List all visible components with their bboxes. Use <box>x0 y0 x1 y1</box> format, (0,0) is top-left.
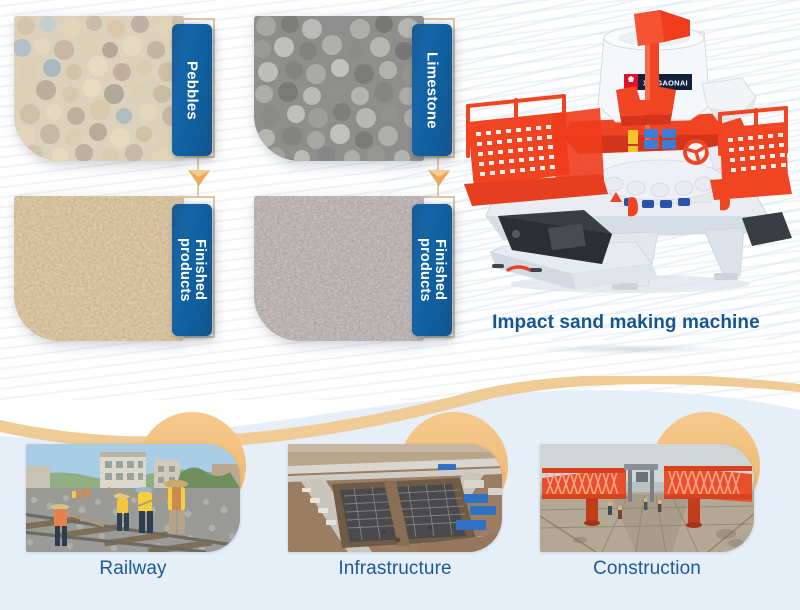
flow-card-limestone: Limestone <box>254 16 454 166</box>
flow-tab-label: Finished products <box>177 238 207 302</box>
railway-photo <box>26 444 240 552</box>
limestone-photo-texture <box>254 16 424 161</box>
flow-tab-label: Finished products <box>417 238 447 302</box>
application-label-construction: Construction <box>540 558 754 580</box>
application-label-railway: Railway <box>26 558 240 580</box>
flow-tab-finished-grey: Finished products <box>412 204 452 336</box>
infrastructure-photo <box>288 444 502 552</box>
limestone-photo <box>254 16 424 161</box>
promo-page: Pebbles <box>0 0 800 610</box>
flow-card-finished-tan: Finished products <box>14 196 214 346</box>
flow-tab-finished-tan: Finished products <box>172 204 212 336</box>
flow-tab-pebbles: Pebbles <box>172 24 212 156</box>
construction-photo <box>540 444 754 552</box>
machine-caption: Impact sand making machine <box>452 312 800 334</box>
application-label-infrastructure: Infrastructure <box>288 558 502 580</box>
finished-sand-photo <box>14 196 184 341</box>
pebbles-photo <box>14 16 184 161</box>
flow-card-pebbles: Pebbles <box>14 16 214 166</box>
impact-sand-making-machine-photo: XINGAONAI <box>452 2 800 302</box>
applications-row: Railway <box>0 376 800 610</box>
flow-tab-limestone: Limestone <box>412 24 452 156</box>
finished-grey-sand-photo-texture <box>254 196 424 341</box>
machine-illustration: XINGAONAI <box>452 2 800 302</box>
caption-drop-shadow <box>530 344 730 354</box>
down-arrow-icon <box>428 170 450 186</box>
construction-photo-art <box>540 444 754 552</box>
material-flow-diagram: Pebbles <box>0 0 470 380</box>
flow-tab-label: Pebbles <box>184 61 199 120</box>
pebbles-photo-texture <box>14 16 184 161</box>
down-arrow-icon <box>188 170 210 186</box>
finished-grey-sand-photo <box>254 196 424 341</box>
finished-sand-photo-texture <box>14 196 184 341</box>
railway-photo-art <box>26 444 240 552</box>
flow-card-finished-grey: Finished products <box>254 196 454 346</box>
flow-tab-label: Limestone <box>424 52 439 129</box>
infrastructure-photo-art <box>288 444 502 552</box>
